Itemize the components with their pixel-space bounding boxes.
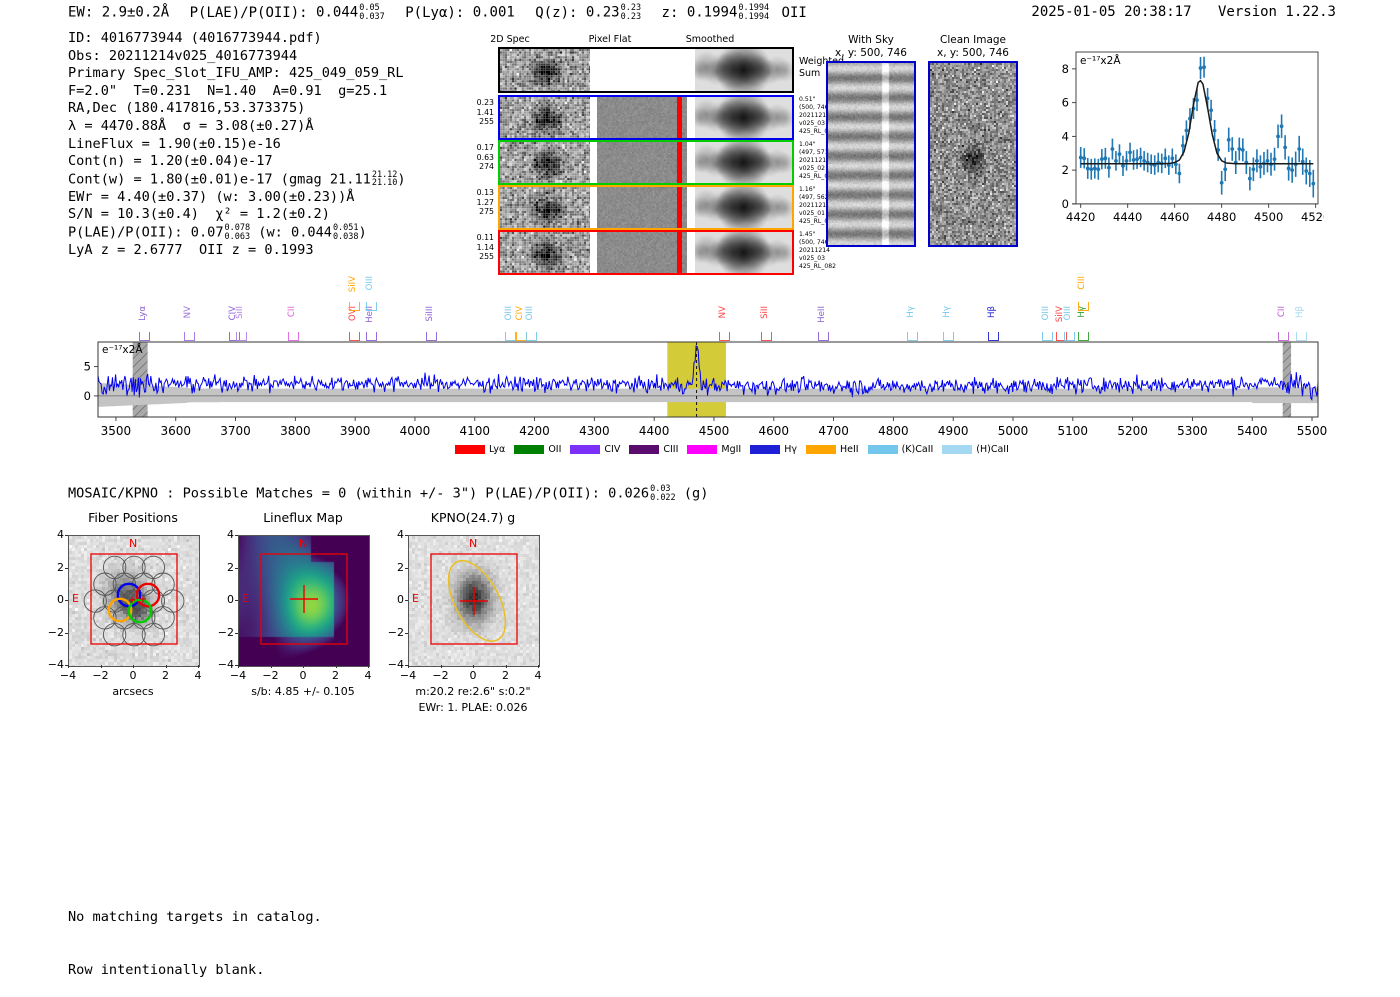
compass-east: E: [72, 592, 79, 605]
spec2d-title-pixelflat: Pixel Flat: [560, 34, 660, 45]
flat-marker-line: [677, 187, 682, 228]
cutout-title: Clean Image: [928, 34, 1018, 47]
weighted-sum-row: [498, 47, 794, 93]
compass-north: N: [299, 537, 307, 550]
spectrum-xtick: 4700: [818, 424, 849, 438]
timestamp: 2025-01-05 20:38:17: [1031, 4, 1191, 20]
emission-label-bracket: [366, 332, 377, 341]
panel-2-xtick: 4: [359, 669, 377, 682]
spectrum-xtick: 4900: [938, 424, 969, 438]
spectrum-xtick: 4800: [878, 424, 909, 438]
smoothed-image: [695, 49, 792, 91]
spectrum-xtick: 3500: [101, 424, 132, 438]
emission-label-h: Hγ: [942, 306, 952, 318]
ytick-label: 4: [1062, 129, 1069, 143]
info-line-lineflux: LineFlux = 1.90(±0.15)e-16: [68, 136, 406, 154]
fiber-overlay: [69, 536, 199, 666]
spectrum-flux-unit: e⁻¹⁷x2Å: [102, 343, 143, 356]
row-metric: 1.27: [461, 198, 494, 208]
emission-label-cii: CII: [1277, 306, 1287, 317]
legend-item-civ: CIV: [570, 444, 620, 455]
emission-label-bracket: [526, 332, 537, 341]
header-plae-value: 0.044: [316, 5, 358, 21]
info-line-primary-spec: Primary Spec_Slot_IFU_AMP: 425_049_059_R…: [68, 65, 406, 83]
legend-item-ly: Lyα: [455, 444, 505, 455]
kpno-overlay: [409, 536, 539, 666]
spectrum-xtick: 4500: [699, 424, 730, 438]
emission-label-bracket: [943, 332, 954, 341]
emission-label-bracket: [1296, 332, 1307, 341]
spec2d-image: [500, 187, 590, 228]
info-plae-w-lo: 0.038: [333, 233, 359, 242]
spectrum-xtick: 4400: [639, 424, 670, 438]
spectrum-legend: LyαOIICIVCIIIMgIIHγHeII(K)CaII(H)CaII: [455, 444, 1009, 455]
legend-swatch: [806, 445, 836, 454]
spectrum-xtick: 3800: [280, 424, 311, 438]
panel-3-xtick: −4: [399, 669, 417, 682]
emission-line-zoom-plot: 44204440446044804500452002468e⁻¹⁷x2Å: [1036, 44, 1324, 244]
row-meta: v025_03: [799, 255, 836, 263]
info-line-ewr: EWr = 4.40(±0.37) (w: 3.00(±0.23))Å: [68, 189, 406, 207]
header-z-label: z:: [662, 5, 679, 21]
panel-3-xtick: 2: [497, 669, 515, 682]
panel-1-xtick: −4: [59, 669, 77, 682]
highlight-band-3: [1283, 342, 1291, 417]
panel-2-image: [238, 535, 370, 667]
ytick-label: 8: [1062, 62, 1069, 76]
emission-label-ly: Lyα: [138, 306, 148, 321]
fiber-row-4-left-labels: 0.111.14255: [461, 233, 494, 262]
bottom-panel-group: Fiber PositionsNE420−2−4−4−2024arcsecsLi…: [60, 510, 680, 735]
fiber-row-2-left-labels: 0.170.63274: [461, 143, 494, 172]
panel-1-xtick: 0: [124, 669, 142, 682]
legend-label: Hγ: [784, 444, 797, 455]
emission-label-bracket: [516, 332, 527, 341]
fiber-row-3-left-labels: 0.131.27275: [461, 188, 494, 217]
emission-label-civ: CIV: [515, 306, 525, 320]
row-metric: 0.23: [461, 98, 494, 108]
fiber-row-3: [498, 185, 794, 230]
legend-swatch: [455, 445, 485, 454]
header-ew: EW: 2.9±0.2Å: [68, 5, 169, 21]
emission-label-bracket: [184, 332, 195, 341]
footer-line-1: No matching targets in catalog.: [68, 909, 322, 927]
legend-item-hcaii: (H)CaII: [942, 444, 1009, 455]
emission-label-bracket: [988, 332, 999, 341]
row-metric: 275: [461, 207, 494, 217]
emission-label-oiii: OIII: [365, 276, 375, 290]
panel-2-title: Lineflux Map: [210, 510, 396, 525]
mosaic-suffix: (g): [684, 486, 709, 502]
spectrum-xtick: 4000: [400, 424, 431, 438]
legend-swatch: [750, 445, 780, 454]
xtick-label: 4440: [1113, 210, 1142, 224]
smoothed-image: [695, 142, 792, 183]
tick-mark: [271, 665, 272, 668]
ytick-label: 2: [1062, 163, 1069, 177]
header-summary: EW: 2.9±0.2Å P(LAE)/P(OII): 0.0440.050.0…: [68, 4, 807, 21]
emission-label-oiii: OIII: [1063, 306, 1073, 320]
fiber-row-1: [498, 95, 794, 140]
cutout-2-image: [928, 61, 1018, 247]
panel-3-ytick: −2: [386, 626, 404, 639]
spectrum-xtick: 3700: [220, 424, 251, 438]
flux-unit-annotation: e⁻¹⁷x2Å: [1080, 54, 1121, 67]
emission-label-heii: HeII: [817, 306, 827, 323]
tick-mark: [405, 568, 408, 569]
cutout-1-image: [826, 61, 916, 247]
info-line-radec: RA,Dec (180.417816,53.373375): [68, 100, 406, 118]
row-metric: 0.11: [461, 233, 494, 243]
cutout-coords: x, y: 500, 746: [928, 47, 1018, 60]
mosaic-plae: 0.026: [608, 486, 649, 502]
tick-mark: [473, 665, 474, 668]
row-metric: 255: [461, 117, 494, 127]
spectrum-xtick: 4200: [519, 424, 550, 438]
tick-mark: [65, 633, 68, 634]
ytick-label: 6: [1062, 96, 1069, 110]
legend-item-heii: HeII: [806, 444, 859, 455]
panel-2-ytick: −2: [216, 626, 234, 639]
emission-label-bracket: [139, 332, 150, 341]
panel-3-ytick: 2: [386, 561, 404, 574]
legend-swatch: [629, 445, 659, 454]
header-z-lo: 0.1994: [738, 13, 769, 22]
fiber-row-4: [498, 230, 794, 275]
tick-mark: [235, 568, 238, 569]
emission-label-bracket: [236, 332, 247, 341]
info-plae-lo: 0.063: [225, 233, 251, 242]
xtick-label: 4500: [1254, 210, 1283, 224]
emission-label-nv: NV: [183, 306, 193, 318]
row-metric: 0.17: [461, 143, 494, 153]
legend-label: CIV: [604, 444, 620, 455]
panel-2-ytick: 0: [216, 593, 234, 606]
cutout-2-title: Clean Imagex, y: 500, 746: [928, 34, 1018, 60]
row-metric: 0.63: [461, 153, 494, 163]
spec2d-image: [500, 49, 590, 91]
tick-mark: [65, 600, 68, 601]
panel-2-ytick: 4: [216, 528, 234, 541]
tick-mark: [405, 600, 408, 601]
panel-3-ytick: 0: [386, 593, 404, 606]
mosaic-prefix: MOSAIC/KPNO : Possible Matches = 0 (with…: [68, 486, 600, 502]
tick-mark: [235, 535, 238, 536]
panel-2-xtick: −2: [262, 669, 280, 682]
legend-swatch: [868, 445, 898, 454]
tick-mark: [235, 633, 238, 634]
cutout-1-title: With Skyx, y: 500, 746: [826, 34, 916, 60]
legend-item-ciii: CIII: [629, 444, 678, 455]
legend-swatch: [514, 445, 544, 454]
emission-label-bracket: [1042, 332, 1053, 341]
object-info-block: ID: 4016773944 (4016773944.pdf) Obs: 202…: [68, 30, 406, 260]
panel-3-image: [408, 535, 540, 667]
cutout-coords: x, y: 500, 746: [826, 47, 916, 60]
emission-label-oiii: OIII: [504, 306, 514, 320]
header-z-type: OII: [782, 5, 807, 21]
info-line-snr: S/N = 10.3(±0.4) χ² = 1.2(±0.2): [68, 206, 406, 224]
panel-1-image: [68, 535, 200, 667]
panel-1-ytick: 2: [46, 561, 64, 574]
spectrum-ytick: 0: [84, 389, 91, 403]
tick-mark: [538, 665, 539, 668]
spectrum-ytick: 5: [84, 360, 91, 374]
info-line-id: ID: 4016773944 (4016773944.pdf): [68, 30, 406, 48]
header-qz-value: 0.23: [586, 5, 620, 21]
info-line-obs: Obs: 20211214v025_4016773944: [68, 48, 406, 66]
emission-label-siiii: SiIII: [425, 306, 435, 321]
panel-2-ytick: 2: [216, 561, 234, 574]
info-line-redshifts: LyA z = 2.6777 OII z = 0.1993: [68, 242, 406, 260]
emission-label-bracket: [719, 332, 730, 341]
panel-2-xtick: −4: [229, 669, 247, 682]
emission-label-bracket: [1078, 332, 1089, 341]
tick-mark: [235, 600, 238, 601]
legend-label: OII: [548, 444, 561, 455]
spec2d-title-2dspec: 2D Spec: [460, 34, 560, 45]
gmag-lo: 21.10: [372, 179, 398, 188]
tick-mark: [68, 665, 69, 668]
spectrum-xtick: 5000: [998, 424, 1029, 438]
full-spectrum-plot: 0535003600370038003900400041004200430044…: [60, 270, 1340, 455]
emission-label-h: Hγ: [906, 306, 916, 318]
smoothed-image: [695, 187, 792, 228]
ytick-label: 0: [1062, 197, 1069, 211]
emission-label-siii: SiII: [235, 306, 245, 319]
spec2d-image: [500, 142, 590, 183]
compass-east: E: [412, 592, 419, 605]
pixel-flat-image: [597, 187, 687, 228]
panel-3-caption-2: EWr: 1. PLAE: 0.026: [368, 701, 578, 714]
legend-item-kcaii: (K)CaII: [868, 444, 934, 455]
lineflux-overlay: [239, 536, 369, 666]
panel-3-xtick: 4: [529, 669, 547, 682]
spec2d-title-smoothed: Smoothed: [660, 34, 760, 45]
cutout-title: With Sky: [826, 34, 916, 47]
legend-swatch: [942, 445, 972, 454]
smoothed-image: [695, 97, 792, 138]
emission-label-siiv: SiIV: [348, 276, 358, 292]
panel-1-xtick: 2: [157, 669, 175, 682]
emission-label-bracket: [288, 332, 299, 341]
legend-label: (K)CaII: [902, 444, 934, 455]
emission-label-bracket: [366, 302, 377, 311]
row-metric: 1.14: [461, 243, 494, 253]
emission-label-siii: SiII: [760, 306, 770, 319]
tick-mark: [65, 535, 68, 536]
legend-swatch: [570, 445, 600, 454]
legend-label: CIII: [663, 444, 678, 455]
compass-north: N: [469, 537, 477, 550]
smoothed-image: [695, 232, 792, 273]
header-plae-lo: 0.037: [359, 13, 385, 22]
pixel-flat-image: [597, 142, 687, 183]
legend-label: Lyα: [489, 444, 505, 455]
legend-label: (H)CaII: [976, 444, 1009, 455]
tick-mark: [405, 535, 408, 536]
header-plya-value: 0.001: [473, 5, 515, 21]
xtick-label: 4420: [1066, 210, 1095, 224]
compass-east: E: [242, 592, 249, 605]
panel-1-ytick: 0: [46, 593, 64, 606]
legend-swatch: [687, 445, 717, 454]
emission-label-bracket: [1278, 332, 1289, 341]
spec2d-image: [500, 232, 590, 273]
tick-mark: [101, 665, 102, 668]
spectrum-xtick: 5100: [1058, 424, 1089, 438]
spectrum-xtick: 4600: [759, 424, 790, 438]
emission-label-h: Hβ: [987, 306, 997, 318]
panel-3-xtick: 0: [464, 669, 482, 682]
info-line-params: F=2.0" T=0.231 N=1.40 A=0.91 g=25.1: [68, 83, 406, 101]
pixel-flat-image: [597, 97, 687, 138]
emission-label-oiii: OIII: [525, 306, 535, 320]
xtick-label: 4480: [1207, 210, 1236, 224]
compass-north: N: [129, 537, 137, 550]
fiber-row-1-left-labels: 0.231.41255: [461, 98, 494, 127]
tick-mark: [368, 665, 369, 668]
panel-1-xtick: 4: [189, 669, 207, 682]
emission-label-bracket: [818, 332, 829, 341]
panel-3-title: KPNO(24.7) g: [380, 510, 566, 525]
panel-3-xtick: −2: [432, 669, 450, 682]
emission-label-bracket: [761, 332, 772, 341]
spectrum-xtick: 4300: [579, 424, 610, 438]
legend-item-oii: OII: [514, 444, 561, 455]
panel-1-xtick: −2: [92, 669, 110, 682]
full-spectrum-svg: 0535003600370038003900400041004200430044…: [60, 270, 1340, 455]
emission-label-nv: NV: [718, 306, 728, 318]
row-metric: 1.41: [461, 108, 494, 118]
pixel-flat-image: [597, 232, 687, 273]
row-metric: 0.13: [461, 188, 494, 198]
xtick-label: 4520: [1301, 210, 1324, 224]
mosaic-plae-lo: 0.022: [650, 494, 676, 503]
header-qz-lo: 0.23: [621, 13, 641, 22]
spectrum-xtick: 5300: [1177, 424, 1208, 438]
fiber-row-2: [498, 140, 794, 185]
spectrum-xtick: 4100: [459, 424, 490, 438]
tick-mark: [336, 665, 337, 668]
header-plya-label: P(Lyα):: [405, 5, 464, 21]
legend-label: HeII: [840, 444, 859, 455]
emission-label-bracket: [349, 332, 360, 341]
footer-note: No matching targets in catalog. Row inte…: [68, 874, 322, 997]
flat-marker-line: [677, 232, 682, 273]
info-line-cont-n: Cont(n) = 1.20(±0.04)e-17: [68, 153, 406, 171]
row-meta: 20211214: [799, 247, 836, 255]
emission-line-chart-svg: 44204440446044804500452002468e⁻¹⁷x2Å: [1036, 44, 1324, 244]
info-line-plae: P(LAE)/P(OII): 0.070.0780.063 (w: 0.0440…: [68, 224, 406, 242]
info-line-lambda-sigma: λ = 4470.88Å σ = 3.08(±0.27)Å: [68, 118, 406, 136]
spectrum-xtick: 5400: [1237, 424, 1268, 438]
emission-label-bracket: [907, 332, 918, 341]
panel-1-ytick: 4: [46, 528, 64, 541]
emission-label-bracket: [426, 332, 437, 341]
legend-label: MgII: [721, 444, 741, 455]
tick-mark: [303, 665, 304, 668]
xtick-label: 4460: [1160, 210, 1189, 224]
tick-mark: [441, 665, 442, 668]
tick-mark: [65, 568, 68, 569]
spec2d-group: 2D Spec Pixel Flat Smoothed Weighted Sum…: [460, 34, 810, 249]
row-metric: 255: [461, 252, 494, 262]
flat-marker-line: [677, 142, 682, 183]
panel-1-title: Fiber Positions: [40, 510, 226, 525]
emission-label-oiii: OIII: [1041, 306, 1051, 320]
spectrum-xtick: 3600: [160, 424, 191, 438]
header-plae-label: P(LAE)/P(OII):: [190, 5, 308, 21]
legend-item-mgii: MgII: [687, 444, 741, 455]
emission-label-bracket: [1064, 332, 1075, 341]
panel-1-ytick: −2: [46, 626, 64, 639]
tick-mark: [238, 665, 239, 668]
panel-3-caption: m:20.2 re:2.6" s:0.2": [368, 685, 578, 698]
header-z-value: 0.1994: [687, 5, 738, 21]
tick-mark: [408, 665, 409, 668]
emission-label-bracket: [1078, 302, 1089, 311]
mosaic-kpno-summary: MOSAIC/KPNO : Possible Matches = 0 (with…: [68, 485, 708, 502]
emission-label-bracket: [349, 302, 360, 311]
emission-label-ciii: CIII: [1077, 276, 1087, 290]
tick-mark: [198, 665, 199, 668]
legend-item-h: Hγ: [750, 444, 797, 455]
flat-marker-line: [677, 97, 682, 138]
tick-mark: [506, 665, 507, 668]
row-metric: 274: [461, 162, 494, 172]
spectrum-xtick: 3900: [340, 424, 371, 438]
tick-mark: [133, 665, 134, 668]
version-label: Version 1.22.3: [1218, 4, 1336, 20]
spectrum-xtick: 5500: [1297, 424, 1328, 438]
header-meta: 2025-01-05 20:38:17 Version 1.22.3: [1031, 4, 1336, 20]
spectrum-xtick: 5200: [1117, 424, 1148, 438]
tick-mark: [166, 665, 167, 668]
panel-3-ytick: 4: [386, 528, 404, 541]
footer-line-2: Row intentionally blank.: [68, 962, 322, 980]
pixel-flat-image: [597, 49, 687, 91]
panel-2-xtick: 0: [294, 669, 312, 682]
tick-mark: [405, 633, 408, 634]
panel-2-xtick: 2: [327, 669, 345, 682]
emission-label-h: Hβ: [1295, 306, 1305, 318]
emission-label-cii: CII: [287, 306, 297, 317]
info-line-cont-w: Cont(w) = 1.80(±0.01)e-17 (gmag 21.1121.…: [68, 171, 406, 189]
header-qz-label: Q(z):: [535, 5, 577, 21]
spec2d-image: [500, 97, 590, 138]
